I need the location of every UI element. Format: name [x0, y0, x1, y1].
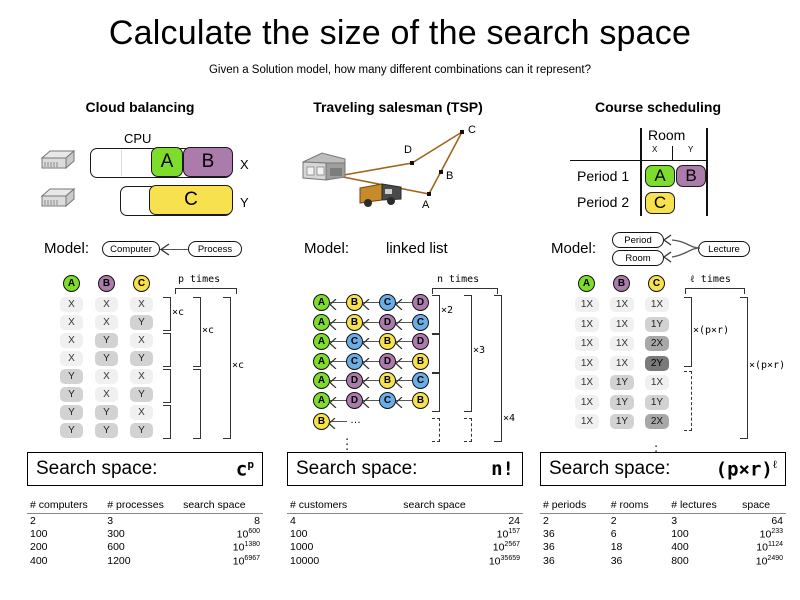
tsp-link-arrow: [395, 297, 403, 315]
tsp-top-bracket: [432, 288, 498, 294]
table-cell: 1000: [287, 541, 400, 555]
table-cell-search-space: 102490: [739, 554, 786, 568]
tsp-node-badge: B: [346, 314, 363, 331]
tsp-node-badge: D: [379, 353, 396, 370]
table-header: # periods: [540, 497, 608, 514]
entity-period: Period: [612, 232, 664, 248]
badge-c-cloud: C: [133, 275, 150, 292]
tsp-link-arrow: [329, 375, 337, 393]
table-cell-search-space: 101124: [739, 541, 786, 555]
entity-room: Room: [612, 250, 664, 266]
cloud-cell: Y: [95, 351, 118, 366]
chip-c-cloud: C: [149, 185, 233, 215]
tsp-node-badge: C: [346, 333, 363, 350]
cloud-cell: X: [95, 297, 118, 312]
table-cell: 300: [104, 527, 180, 541]
table-cell-search-space: 24: [400, 514, 523, 528]
tsp-node-badge: D: [379, 314, 396, 331]
tsp-link-arrow: [395, 336, 403, 354]
tsp-bracket-l1-3: [432, 373, 440, 412]
cloud-model-label: Model:: [44, 240, 89, 257]
table-cell: 400: [668, 541, 739, 555]
cloud-cell: X: [95, 369, 118, 384]
cloud-cell: Y: [130, 387, 153, 402]
tsp-ellipsis: …: [350, 414, 361, 426]
cloud-cell: X: [130, 369, 153, 384]
entity-process: Process: [188, 241, 242, 257]
course-grid-vline-left: [640, 128, 642, 216]
cloud-multiplier-1: ×c: [172, 307, 184, 318]
tsp-point-label-b: B: [446, 170, 453, 182]
tsp-link-arrow: [395, 317, 403, 335]
course-results-table: # periods# rooms# lecturesspace223643661…: [540, 497, 786, 568]
cloud-cell: Y: [130, 315, 153, 330]
table-header: space: [739, 497, 786, 514]
tsp-node-badge: B: [379, 372, 396, 389]
course-cell: 1X: [610, 356, 634, 371]
cloud-bracket-l2-2: [193, 369, 201, 439]
table-cell: 100: [668, 527, 739, 541]
tsp-link-arrow: [329, 395, 337, 413]
tsp-link-arrow: [362, 356, 370, 374]
cloud-bracket-l1-4: [163, 405, 171, 439]
table-cell-search-space: 10157: [400, 527, 523, 541]
chip-c-course: C: [645, 192, 675, 214]
tsp-bracket-l1-dashed: [432, 418, 440, 442]
tsp-link-arrow: [329, 336, 337, 354]
tsp-link-arrow: [362, 317, 370, 335]
cloud-cell: X: [130, 297, 153, 312]
cloud-bracket-l1-1: [163, 297, 171, 331]
badge-a-cloud: A: [63, 275, 80, 292]
table-row: 3636800102490: [540, 554, 786, 568]
tsp-route-map: C D B A: [290, 118, 520, 228]
cloud-cell: X: [130, 333, 153, 348]
table-cell: 36: [540, 541, 608, 555]
tsp-link-arrow: [329, 297, 337, 315]
course-cell: 1Y: [645, 317, 669, 332]
cloud-cell: Y: [95, 333, 118, 348]
cpu-row-label-y: Y: [240, 195, 249, 210]
table-cell: 200: [27, 541, 104, 555]
course-room-col-x: X: [652, 145, 657, 154]
table-cell: 400: [27, 554, 104, 568]
entity-computer: Computer: [102, 241, 160, 257]
table-cell: 2: [540, 514, 608, 528]
column-heading-cloud: Cloud balancing: [10, 99, 270, 115]
table-cell-search-space: 8: [180, 514, 263, 528]
cloud-bracket-l3: [223, 297, 231, 439]
tsp-model-value: linked list: [386, 240, 448, 257]
tsp-node-badge: B: [412, 353, 429, 370]
table-cell: 100: [27, 527, 104, 541]
course-grid-vline-right: [706, 128, 708, 216]
course-cell: 1X: [575, 414, 599, 429]
page-subtitle: Given a Solution model, how many differe…: [0, 64, 800, 76]
tsp-node-badge: B: [412, 392, 429, 409]
tsp-link-arrow: [362, 336, 370, 354]
tsp-node-badge: C: [379, 294, 396, 311]
search-space-formula-tsp: n!: [491, 458, 514, 480]
tsp-node-badge: C: [379, 392, 396, 409]
tsp-point-label-c: C: [468, 124, 476, 136]
table-row: 10010157: [287, 527, 523, 541]
tsp-bracket-l1-1: [432, 295, 440, 334]
course-grid-hline: [570, 160, 707, 161]
table-cell: 36: [540, 554, 608, 568]
course-cell: 1X: [610, 317, 634, 332]
search-space-label-tsp: Search space:: [296, 458, 417, 480]
cloud-bracket-l1-3: [163, 369, 171, 403]
tsp-multiplier-1: ×2: [441, 305, 453, 316]
table-row: 3618400101124: [540, 541, 786, 555]
course-top-bracket: [685, 288, 745, 294]
table-cell: 3: [104, 514, 180, 528]
cpu-row-label-x: X: [240, 157, 249, 172]
course-bracket-l1-1: [684, 297, 692, 367]
table-cell-search-space: 10600: [180, 527, 263, 541]
table-row: 424: [287, 514, 523, 528]
table-cell-search-space: 10233: [739, 527, 786, 541]
search-space-label-course: Search space:: [549, 458, 670, 480]
course-bracket-l2: [740, 297, 748, 439]
tsp-results-table: # customerssearch space42410010157100010…: [287, 497, 523, 568]
table-cell-search-space: 101380: [180, 541, 263, 555]
tsp-node-badge: A: [313, 392, 330, 409]
search-space-box-tsp: Search space: n!: [287, 452, 523, 486]
table-cell: 600: [104, 541, 180, 555]
cloud-cell: X: [95, 387, 118, 402]
tsp-multiplier-2: ×3: [473, 345, 485, 356]
badge-b-course: B: [613, 275, 630, 292]
cloud-model-arrow: [158, 243, 170, 261]
course-period-1-label: Period 1: [577, 168, 629, 184]
tsp-node-badge: C: [412, 314, 429, 331]
course-period-2-label: Period 2: [577, 194, 629, 210]
table-header: # lectures: [668, 497, 739, 514]
cloud-cell: Y: [60, 387, 83, 402]
tsp-node-badge: B: [346, 294, 363, 311]
course-cell: 1X: [575, 356, 599, 371]
table-cell: 3: [668, 514, 739, 528]
server-icon-1: [38, 148, 76, 179]
cpu-bar-x: A B: [90, 148, 232, 178]
table-header: search space: [180, 497, 263, 514]
search-space-label-cloud: Search space:: [36, 458, 157, 480]
table-row: 4001200106967: [27, 554, 263, 568]
table-cell: 36: [608, 554, 668, 568]
table-row: 200600101380: [27, 541, 263, 555]
course-multiplier-1: ×(p×r): [693, 325, 729, 336]
course-cell: 2X: [645, 336, 669, 351]
table-row: 238: [27, 514, 263, 528]
cloud-cell: Y: [130, 423, 153, 438]
table-cell: 800: [668, 554, 739, 568]
chip-a-course: A: [645, 165, 675, 187]
table-cell: 1200: [104, 554, 180, 568]
course-cell: 1X: [645, 297, 669, 312]
cpu-label: CPU: [124, 131, 151, 146]
table-cell: 100: [287, 527, 400, 541]
course-cell: 1Y: [645, 395, 669, 410]
chip-a-cloud: A: [151, 147, 183, 177]
cpu-bar-y: C: [120, 186, 232, 216]
cloud-cell: X: [60, 333, 83, 348]
cloud-multiplier-3: ×c: [232, 360, 244, 371]
badge-c-course: C: [648, 275, 665, 292]
cloud-cell: Y: [60, 423, 83, 438]
tsp-node-badge: D: [412, 294, 429, 311]
cloud-cell: X: [95, 315, 118, 330]
page-title: Calculate the size of the search space: [0, 14, 800, 53]
table-cell: 10000: [287, 554, 400, 568]
tsp-node-badge: A: [313, 294, 330, 311]
cloud-cell: Y: [60, 405, 83, 420]
table-row: 100001035659: [287, 554, 523, 568]
tsp-node-badge: B: [379, 333, 396, 350]
tsp-bracket-l3: [494, 295, 502, 442]
tsp-point-label-a: A: [422, 199, 429, 211]
server-icon-2: [38, 186, 76, 217]
course-bracket-l1-dashed: [684, 371, 692, 431]
tsp-node-badge: D: [346, 372, 363, 389]
search-space-box-cloud: Search space: cp: [27, 452, 263, 486]
table-header: # customers: [287, 497, 400, 514]
truck-icon: [358, 180, 406, 215]
cloud-times-label: p times: [178, 274, 220, 285]
tsp-node-badge: D: [412, 333, 429, 350]
table-cell: 18: [608, 541, 668, 555]
table-row: 1000102567: [287, 541, 523, 555]
badge-b-cloud: B: [98, 275, 115, 292]
course-cell: 1X: [610, 336, 634, 351]
tsp-bracket-l1-2: [432, 334, 440, 373]
tsp-point-label-d: D: [404, 144, 412, 156]
course-cell: 1X: [575, 336, 599, 351]
table-cell-search-space: 106967: [180, 554, 263, 568]
table-cell: 6: [608, 527, 668, 541]
chip-b-cloud: B: [183, 147, 233, 177]
course-room-label: Room: [648, 127, 685, 143]
tsp-node-badge: A: [313, 372, 330, 389]
tsp-bracket-l2-dashed: [464, 418, 472, 442]
cloud-cell: X: [60, 351, 83, 366]
table-cell-search-space: 102567: [400, 541, 523, 555]
course-cell: 2Y: [645, 356, 669, 371]
course-cell: 1X: [575, 395, 599, 410]
tsp-link-arrow: [362, 395, 370, 413]
course-cell: 1X: [610, 297, 634, 312]
cloud-cell: Y: [130, 351, 153, 366]
search-space-formula-course: (p×r)ℓ: [716, 458, 777, 480]
tsp-node-badge: D: [346, 392, 363, 409]
table-header: # rooms: [608, 497, 668, 514]
course-model-links: [660, 231, 704, 268]
tsp-multiplier-3: ×4: [503, 413, 515, 424]
course-cell: 1X: [575, 317, 599, 332]
badge-a-course: A: [578, 275, 595, 292]
table-cell: 2: [608, 514, 668, 528]
warehouse-icon: [300, 150, 348, 189]
course-multiplier-2: ×(p×r): [749, 360, 785, 371]
tsp-link-arrow: [395, 375, 403, 393]
course-room-col-y: Y: [688, 145, 693, 154]
course-cell: 1Y: [610, 395, 634, 410]
course-cell: 1X: [575, 375, 599, 390]
table-cell-search-space: 64: [739, 514, 786, 528]
table-cell: 4: [287, 514, 400, 528]
tsp-link-arrow: [362, 375, 370, 393]
cloud-cell: X: [60, 297, 83, 312]
table-cell-search-space: 1035659: [400, 554, 523, 568]
tsp-bracket-l2: [464, 295, 472, 412]
entity-lecture: Lecture: [698, 241, 750, 257]
tsp-node-badge: A: [313, 314, 330, 331]
table-header: search space: [400, 497, 523, 514]
search-space-box-course: Search space: (p×r)ℓ: [540, 452, 786, 486]
course-model-label: Model:: [551, 240, 596, 257]
course-cell: 1Y: [610, 375, 634, 390]
course-cell: 1X: [575, 297, 599, 312]
cloud-results-table: # computers# processessearch space238100…: [27, 497, 263, 568]
tsp-link-arrow: [395, 356, 403, 374]
tsp-link-arrow: [329, 356, 337, 374]
cloud-multiplier-2: ×c: [202, 325, 214, 336]
table-cell: 36: [540, 527, 608, 541]
course-cell: 2X: [645, 414, 669, 429]
cloud-cell: Y: [60, 369, 83, 384]
table-header: # processes: [104, 497, 180, 514]
cloud-cell: Y: [95, 423, 118, 438]
cloud-bracket-l2-1: [193, 297, 201, 367]
cloud-top-bracket: [175, 288, 237, 294]
table-cell: 2: [27, 514, 104, 528]
cloud-bracket-l1-2: [163, 333, 171, 367]
tsp-link-arrow: [329, 317, 337, 335]
column-heading-tsp: Traveling salesman (TSP): [268, 99, 528, 115]
table-row: 22364: [540, 514, 786, 528]
tsp-link-arrow: [328, 416, 336, 434]
tsp-node-badge: C: [346, 353, 363, 370]
search-space-formula-cloud: cp: [236, 458, 254, 480]
course-cell: 1X: [645, 375, 669, 390]
tsp-model-label: Model:: [304, 240, 349, 257]
cloud-cell: X: [60, 315, 83, 330]
table-header: # computers: [27, 497, 104, 514]
course-times-label: ℓ times: [690, 274, 731, 285]
table-row: 36610010233: [540, 527, 786, 541]
tsp-vertical-dots: ...: [345, 433, 349, 448]
course-cell: 1Y: [610, 414, 634, 429]
table-row: 10030010600: [27, 527, 263, 541]
cloud-cell: X: [130, 405, 153, 420]
course-grid-vline-mid: [672, 146, 673, 160]
tsp-node-badge: C: [412, 372, 429, 389]
tsp-node-badge: A: [313, 333, 330, 350]
chip-b-course: B: [676, 165, 706, 187]
tsp-link-arrow: [362, 297, 370, 315]
tsp-times-label: n times: [437, 274, 479, 285]
tsp-node-badge: A: [313, 353, 330, 370]
cloud-cell: Y: [95, 405, 118, 420]
tsp-link-arrow: [395, 395, 403, 413]
column-heading-course: Course scheduling: [528, 99, 788, 115]
